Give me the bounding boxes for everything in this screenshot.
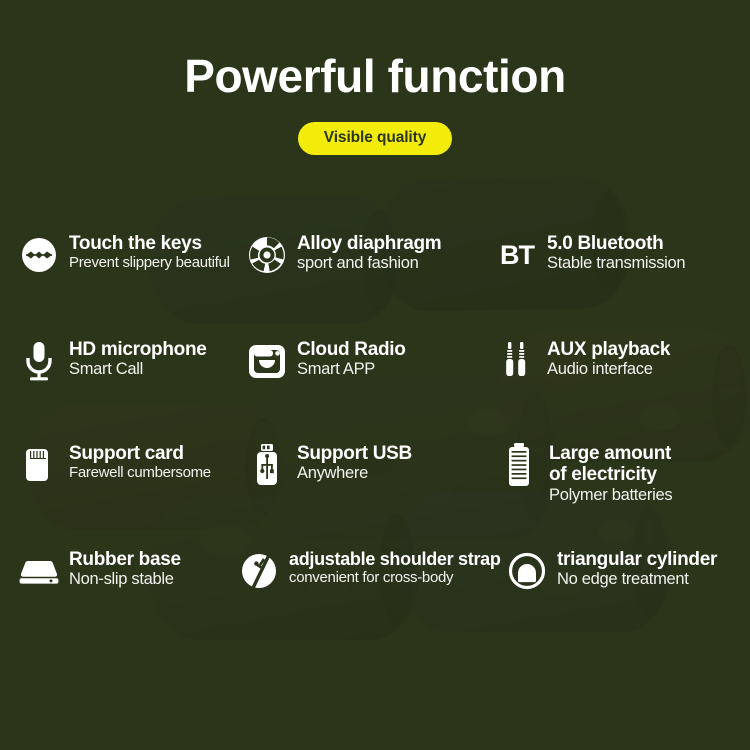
feature-row: Touch the keys Prevent slippery beautifu… [0, 232, 750, 332]
feature-title: Rubber base [69, 549, 181, 570]
feature-row: Support card Farewell cumbersome [0, 442, 750, 542]
bt-text: BT [500, 242, 534, 269]
rubber-base-icon [18, 548, 60, 594]
feature-grid: Touch the keys Prevent slippery beautifu… [0, 232, 750, 648]
aux-jack-icon [496, 338, 538, 384]
feature-subtitle: Farewell cumbersome [69, 464, 211, 481]
feature-text: adjustable shoulder strap convenient for… [289, 548, 501, 586]
feature-item-support-usb: Support USB Anywhere [246, 442, 496, 488]
feature-item-triangular-cylinder: triangular cylinder No edge treatment [506, 548, 750, 594]
feature-title: triangular cylinder [557, 549, 717, 570]
alloy-diaphragm-icon [246, 232, 288, 278]
feature-item-support-card: Support card Farewell cumbersome [0, 442, 246, 488]
feature-title: Touch the keys [69, 233, 230, 254]
feature-text: HD microphone Smart Call [69, 338, 207, 379]
shoulder-strap-icon [238, 548, 280, 594]
feature-title: HD microphone [69, 339, 207, 360]
feature-text: Alloy diaphragm sport and fashion [297, 232, 441, 273]
feature-subtitle: Smart APP [297, 360, 406, 379]
battery-icon [498, 442, 540, 488]
feature-subtitle: convenient for cross-body [289, 569, 501, 586]
touch-keys-icon [18, 232, 60, 278]
usb-drive-icon [246, 442, 288, 488]
badge-container: Visible quality [0, 122, 750, 155]
feature-row: Rubber base Non-slip stable adjustable s… [0, 548, 750, 648]
feature-subtitle: Smart Call [69, 360, 207, 379]
feature-item-hd-microphone: HD microphone Smart Call [0, 338, 246, 384]
microphone-icon [18, 338, 60, 384]
feature-title: Support card [69, 443, 211, 464]
feature-text: Touch the keys Prevent slippery beautifu… [69, 232, 230, 272]
feature-item-bluetooth: BT 5.0 Bluetooth Stable transmission [496, 232, 750, 278]
bluetooth-bt-icon: BT [496, 232, 538, 278]
feature-item-large-battery: Large amount of electricity Polymer batt… [496, 442, 750, 505]
sd-card-icon [18, 442, 60, 488]
feature-title: Alloy diaphragm [297, 233, 441, 254]
triangular-cylinder-icon [506, 548, 548, 594]
feature-subtitle: Non-slip stable [69, 570, 181, 589]
feature-title: AUX playback [547, 339, 670, 360]
feature-subtitle: No edge treatment [557, 570, 717, 589]
feature-item-rubber-base: Rubber base Non-slip stable [0, 548, 238, 594]
feature-subtitle: Anywhere [297, 464, 412, 483]
feature-item-touch-keys: Touch the keys Prevent slippery beautifu… [0, 232, 246, 278]
feature-text: 5.0 Bluetooth Stable transmission [547, 232, 685, 273]
feature-text: Support card Farewell cumbersome [69, 442, 211, 482]
feature-title: Cloud Radio [297, 339, 406, 360]
feature-item-shoulder-strap: adjustable shoulder strap convenient for… [238, 548, 506, 594]
feature-row: HD microphone Smart Call Cloud Radio [0, 338, 750, 438]
feature-item-aux-playback: AUX playback Audio interface [496, 338, 750, 384]
feature-text: Rubber base Non-slip stable [69, 548, 181, 589]
feature-subtitle: Polymer batteries [549, 486, 672, 505]
feature-text: Cloud Radio Smart APP [297, 338, 406, 379]
page-title: Powerful function [0, 0, 750, 100]
poster-header: Powerful function Visible quality [0, 0, 750, 155]
feature-text: Large amount of electricity Polymer batt… [549, 442, 672, 505]
feature-item-alloy-diaphragm: Alloy diaphragm sport and fashion [246, 232, 496, 278]
feature-title-line2: of electricity [549, 464, 672, 485]
feature-text: AUX playback Audio interface [547, 338, 670, 379]
feature-title: Support USB [297, 443, 412, 464]
feature-title: Large amount [549, 443, 672, 464]
feature-item-cloud-radio: Cloud Radio Smart APP [246, 338, 496, 384]
feature-title: adjustable shoulder strap [289, 549, 501, 569]
feature-subtitle: Prevent slippery beautiful [69, 254, 230, 271]
feature-subtitle: Stable transmission [547, 254, 685, 273]
feature-subtitle: sport and fashion [297, 254, 441, 273]
feature-text: triangular cylinder No edge treatment [557, 548, 717, 589]
product-feature-poster: atuer atuer atuer atuer atuer atuer atue… [0, 0, 750, 750]
feature-subtitle: Audio interface [547, 360, 670, 379]
feature-title: 5.0 Bluetooth [547, 233, 685, 254]
status-badge: Visible quality [298, 122, 452, 155]
cloud-radio-icon [246, 338, 288, 384]
feature-text: Support USB Anywhere [297, 442, 412, 483]
